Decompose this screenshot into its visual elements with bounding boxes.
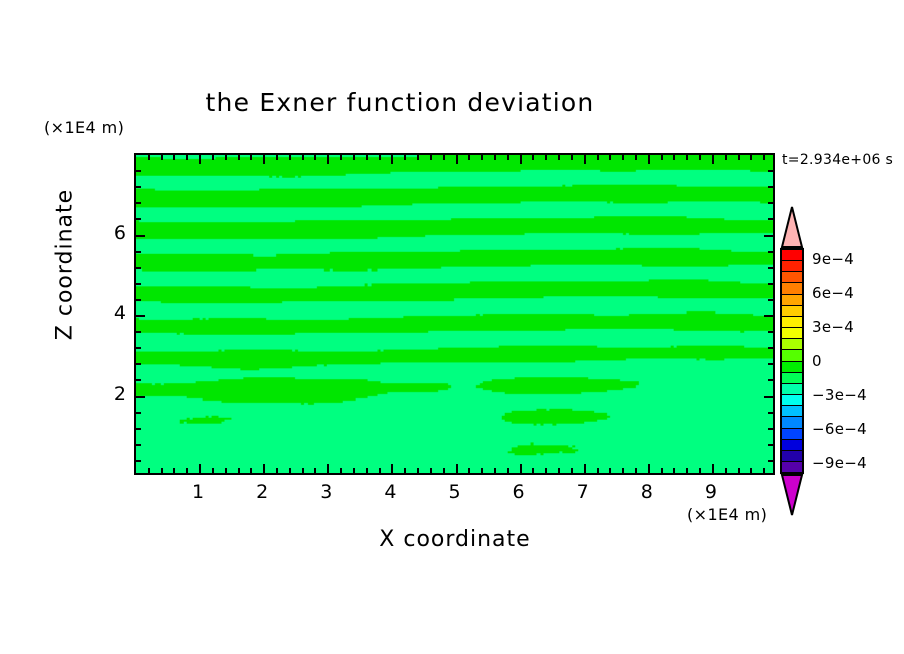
y-tick-label: 4 bbox=[100, 302, 126, 324]
tick-mark bbox=[520, 464, 522, 473]
tick-mark bbox=[238, 155, 240, 160]
tick-mark bbox=[597, 155, 599, 160]
tick-mark bbox=[417, 155, 419, 160]
colorbar-band bbox=[782, 350, 802, 361]
tick-mark bbox=[571, 468, 573, 473]
tick-mark bbox=[302, 468, 304, 473]
tick-mark bbox=[456, 464, 458, 473]
tick-mark bbox=[725, 468, 727, 473]
x-tick-label: 5 bbox=[440, 481, 470, 503]
tick-mark bbox=[768, 444, 773, 446]
colorbar-tick-label: −3e−4 bbox=[812, 386, 867, 404]
tick-mark bbox=[768, 218, 773, 220]
tick-mark bbox=[379, 155, 381, 160]
tick-mark bbox=[136, 170, 141, 172]
tick-mark bbox=[148, 468, 150, 473]
tick-mark bbox=[136, 235, 145, 237]
y-tick-label: 2 bbox=[100, 383, 126, 405]
tick-mark bbox=[173, 155, 175, 160]
tick-mark bbox=[558, 468, 560, 473]
tick-mark bbox=[276, 155, 278, 160]
z-axis-units-caption: (×1E4 m) bbox=[44, 118, 124, 137]
colorbar-band bbox=[782, 429, 802, 440]
tick-mark bbox=[289, 155, 291, 160]
tick-mark bbox=[263, 464, 265, 473]
colorbar-under-arrow-icon bbox=[780, 474, 804, 516]
tick-mark bbox=[712, 155, 714, 164]
tick-mark bbox=[768, 379, 773, 381]
x-tick-label: 2 bbox=[247, 481, 277, 503]
tick-mark bbox=[532, 155, 534, 160]
tick-mark bbox=[404, 155, 406, 160]
y-tick-label: 6 bbox=[100, 222, 126, 244]
tick-mark bbox=[161, 155, 163, 160]
colorbar-band bbox=[782, 306, 802, 317]
tick-mark bbox=[768, 170, 773, 172]
tick-mark bbox=[597, 468, 599, 473]
time-annotation: t=2.934e+06 s bbox=[782, 152, 893, 168]
tick-mark bbox=[136, 267, 141, 269]
tick-mark bbox=[250, 468, 252, 473]
tick-mark bbox=[136, 251, 141, 253]
tick-mark bbox=[725, 155, 727, 160]
tick-mark bbox=[417, 468, 419, 473]
tick-mark bbox=[276, 468, 278, 473]
tick-mark bbox=[391, 155, 393, 164]
tick-mark bbox=[186, 155, 188, 160]
tick-mark bbox=[302, 155, 304, 160]
tick-mark bbox=[161, 468, 163, 473]
x-tick-label: 1 bbox=[183, 481, 213, 503]
colorbar-tick-label: −9e−4 bbox=[812, 454, 867, 472]
tick-mark bbox=[494, 155, 496, 160]
tick-mark bbox=[314, 155, 316, 160]
tick-mark bbox=[443, 155, 445, 160]
tick-mark bbox=[699, 155, 701, 160]
x-tick-label: 9 bbox=[696, 481, 726, 503]
tick-mark bbox=[456, 155, 458, 164]
tick-mark bbox=[136, 186, 141, 188]
contour-field bbox=[136, 155, 773, 473]
tick-mark bbox=[768, 347, 773, 349]
tick-mark bbox=[768, 202, 773, 204]
tick-mark bbox=[763, 155, 765, 160]
tick-mark bbox=[738, 155, 740, 160]
tick-mark bbox=[136, 331, 141, 333]
colorbar-band bbox=[782, 362, 802, 373]
tick-mark bbox=[609, 468, 611, 473]
colorbar-tick-label: 0 bbox=[812, 352, 822, 370]
tick-mark bbox=[443, 468, 445, 473]
tick-mark bbox=[391, 464, 393, 473]
tick-mark bbox=[136, 283, 141, 285]
x-tick-label: 7 bbox=[568, 481, 598, 503]
tick-mark bbox=[327, 464, 329, 473]
colorbar-tick-label: −6e−4 bbox=[812, 420, 867, 438]
tick-mark bbox=[768, 412, 773, 414]
colorbar-band bbox=[782, 373, 802, 384]
tick-mark bbox=[673, 468, 675, 473]
tick-mark bbox=[661, 155, 663, 160]
tick-mark bbox=[289, 468, 291, 473]
tick-mark bbox=[738, 468, 740, 473]
tick-mark bbox=[148, 155, 150, 160]
tick-mark bbox=[314, 468, 316, 473]
tick-mark bbox=[673, 155, 675, 160]
tick-mark bbox=[768, 331, 773, 333]
tick-mark bbox=[545, 468, 547, 473]
tick-mark bbox=[768, 186, 773, 188]
colorbar-band bbox=[782, 395, 802, 406]
tick-mark bbox=[622, 155, 624, 160]
tick-mark bbox=[699, 468, 701, 473]
colorbar-band bbox=[782, 328, 802, 339]
tick-mark bbox=[353, 155, 355, 160]
colorbar-band bbox=[782, 384, 802, 395]
tick-mark bbox=[609, 155, 611, 160]
tick-mark bbox=[468, 468, 470, 473]
tick-mark bbox=[494, 468, 496, 473]
colorbar-band bbox=[782, 462, 802, 472]
tick-mark bbox=[750, 468, 752, 473]
tick-mark bbox=[136, 412, 141, 414]
colorbar-band bbox=[782, 440, 802, 451]
colorbar-band bbox=[782, 339, 802, 350]
tick-mark bbox=[212, 468, 214, 473]
tick-mark bbox=[768, 363, 773, 365]
tick-mark bbox=[136, 218, 141, 220]
tick-mark bbox=[136, 444, 141, 446]
plot-area bbox=[134, 153, 775, 475]
colorbar-band bbox=[782, 406, 802, 417]
tick-mark bbox=[507, 155, 509, 160]
tick-mark bbox=[136, 363, 141, 365]
tick-mark bbox=[584, 464, 586, 473]
colorbar-band bbox=[782, 283, 802, 294]
tick-mark bbox=[136, 428, 141, 430]
page-title: the Exner function deviation bbox=[0, 88, 800, 117]
x-tick-label: 8 bbox=[632, 481, 662, 503]
tick-mark bbox=[571, 155, 573, 160]
tick-mark bbox=[340, 468, 342, 473]
tick-mark bbox=[520, 155, 522, 164]
tick-mark bbox=[199, 464, 201, 473]
colorbar-band bbox=[782, 417, 802, 428]
tick-mark bbox=[584, 155, 586, 164]
tick-mark bbox=[238, 468, 240, 473]
tick-mark bbox=[225, 155, 227, 160]
colorbar-tick-label: 9e−4 bbox=[812, 250, 854, 268]
tick-mark bbox=[430, 468, 432, 473]
tick-mark bbox=[686, 468, 688, 473]
colorbar-band bbox=[782, 261, 802, 272]
tick-mark bbox=[212, 155, 214, 160]
tick-mark bbox=[186, 468, 188, 473]
tick-mark bbox=[764, 396, 773, 398]
colorbar-band bbox=[782, 295, 802, 306]
tick-mark bbox=[136, 460, 141, 462]
tick-mark bbox=[340, 155, 342, 160]
tick-mark bbox=[136, 202, 141, 204]
tick-mark bbox=[661, 468, 663, 473]
tick-mark bbox=[545, 155, 547, 160]
tick-mark bbox=[199, 155, 201, 164]
colorbar-band bbox=[782, 451, 802, 462]
tick-mark bbox=[750, 155, 752, 160]
tick-mark bbox=[648, 155, 650, 164]
colorbar-tick-label: 3e−4 bbox=[812, 318, 854, 336]
tick-mark bbox=[481, 468, 483, 473]
colorbar-band bbox=[782, 250, 802, 261]
tick-mark bbox=[263, 155, 265, 164]
tick-mark bbox=[136, 379, 141, 381]
tick-mark bbox=[764, 235, 773, 237]
tick-mark bbox=[481, 155, 483, 160]
tick-mark bbox=[366, 155, 368, 160]
tick-mark bbox=[768, 428, 773, 430]
tick-mark bbox=[768, 251, 773, 253]
tick-mark bbox=[404, 468, 406, 473]
tick-mark bbox=[430, 155, 432, 160]
tick-mark bbox=[507, 468, 509, 473]
tick-mark bbox=[768, 267, 773, 269]
tick-mark bbox=[648, 464, 650, 473]
tick-mark bbox=[225, 468, 227, 473]
tick-mark bbox=[635, 468, 637, 473]
tick-mark bbox=[173, 468, 175, 473]
tick-mark bbox=[250, 155, 252, 160]
tick-mark bbox=[622, 468, 624, 473]
x-axis-units-caption: (×1E4 m) bbox=[687, 505, 767, 524]
tick-mark bbox=[136, 396, 145, 398]
z-axis-title: Z coordinate bbox=[53, 175, 78, 355]
tick-mark bbox=[136, 315, 145, 317]
tick-mark bbox=[763, 468, 765, 473]
tick-mark bbox=[635, 155, 637, 160]
tick-mark bbox=[353, 468, 355, 473]
tick-mark bbox=[366, 468, 368, 473]
colorbar bbox=[780, 206, 804, 516]
tick-mark bbox=[532, 468, 534, 473]
tick-mark bbox=[712, 464, 714, 473]
x-tick-label: 6 bbox=[504, 481, 534, 503]
colorbar-bands bbox=[780, 248, 804, 474]
tick-mark bbox=[686, 155, 688, 160]
x-axis-title: X coordinate bbox=[0, 527, 904, 552]
colorbar-over-arrow-icon bbox=[780, 206, 804, 248]
tick-mark bbox=[136, 347, 141, 349]
tick-mark bbox=[136, 299, 141, 301]
tick-mark bbox=[768, 460, 773, 462]
colorbar-band bbox=[782, 272, 802, 283]
tick-mark bbox=[768, 283, 773, 285]
colorbar-tick-label: 6e−4 bbox=[812, 284, 854, 302]
tick-mark bbox=[379, 468, 381, 473]
tick-mark bbox=[327, 155, 329, 164]
tick-mark bbox=[468, 155, 470, 160]
x-tick-label: 4 bbox=[375, 481, 405, 503]
x-tick-label: 3 bbox=[311, 481, 341, 503]
tick-mark bbox=[768, 299, 773, 301]
colorbar-band bbox=[782, 317, 802, 328]
tick-mark bbox=[558, 155, 560, 160]
tick-mark bbox=[764, 315, 773, 317]
